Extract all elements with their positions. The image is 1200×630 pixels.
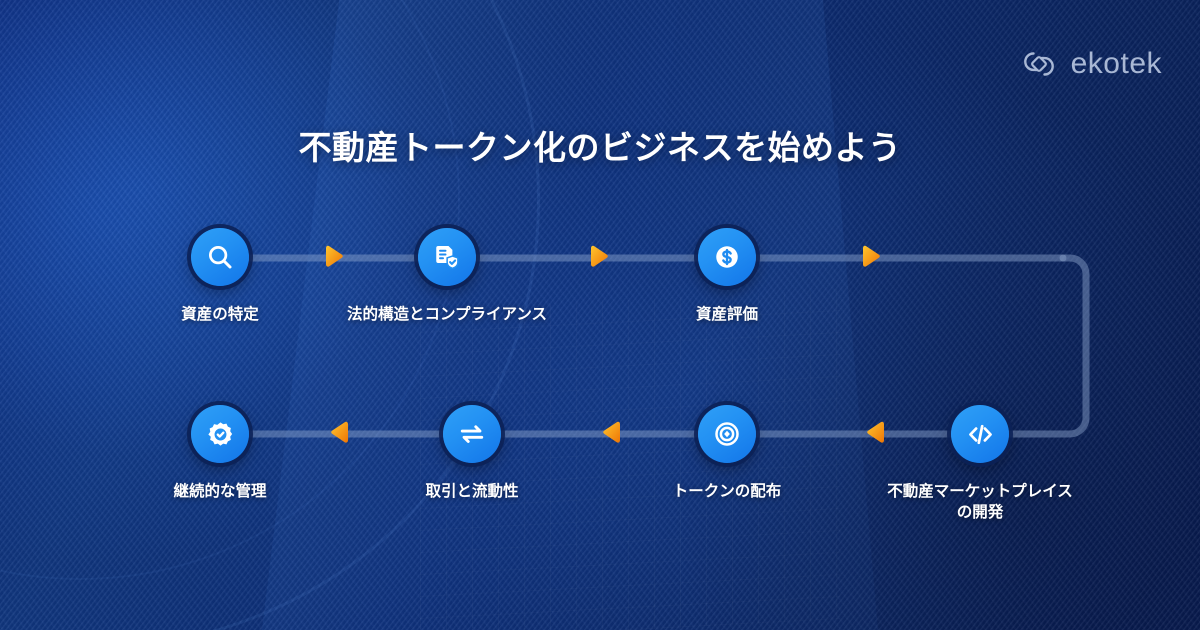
- token-target-icon: [698, 405, 756, 463]
- flow-step-4[interactable]: 不動産マーケットプレイス の開発: [850, 405, 1110, 524]
- flow-step-2[interactable]: 法的構造とコンプライアンス: [317, 228, 577, 325]
- flow-step-label: 不動産マーケットプレイス の開発: [850, 481, 1110, 524]
- flow-step-label: 継続的な管理: [150, 481, 290, 502]
- flow-step-label: 資産評価: [657, 304, 797, 325]
- code-brackets-icon: [951, 405, 1009, 463]
- gear-check-icon: [191, 405, 249, 463]
- flow-step-label: 法的構造とコンプライアンス: [317, 304, 577, 325]
- process-flow-diagram: 資産の特定 法的構造とコンプライアンス: [0, 0, 1200, 630]
- exchange-arrows-icon: [443, 405, 501, 463]
- search-icon: [191, 228, 249, 286]
- flow-step-label: 資産の特定: [150, 304, 290, 325]
- flow-step-1[interactable]: 資産の特定: [150, 228, 290, 325]
- document-shield-icon: [418, 228, 476, 286]
- flow-step-6[interactable]: 取引と流動性: [402, 405, 542, 502]
- flow-step-7[interactable]: 継続的な管理: [150, 405, 290, 502]
- infographic-poster: ekotek 不動産トークン化のビジネスを始めよう 資産の特定: [0, 0, 1200, 630]
- flow-step-label: トークンの配布: [657, 481, 797, 502]
- flow-step-label: 取引と流動性: [402, 481, 542, 502]
- flow-step-3[interactable]: 資産評価: [657, 228, 797, 325]
- flow-step-5[interactable]: トークンの配布: [657, 405, 797, 502]
- dollar-coin-icon: [698, 228, 756, 286]
